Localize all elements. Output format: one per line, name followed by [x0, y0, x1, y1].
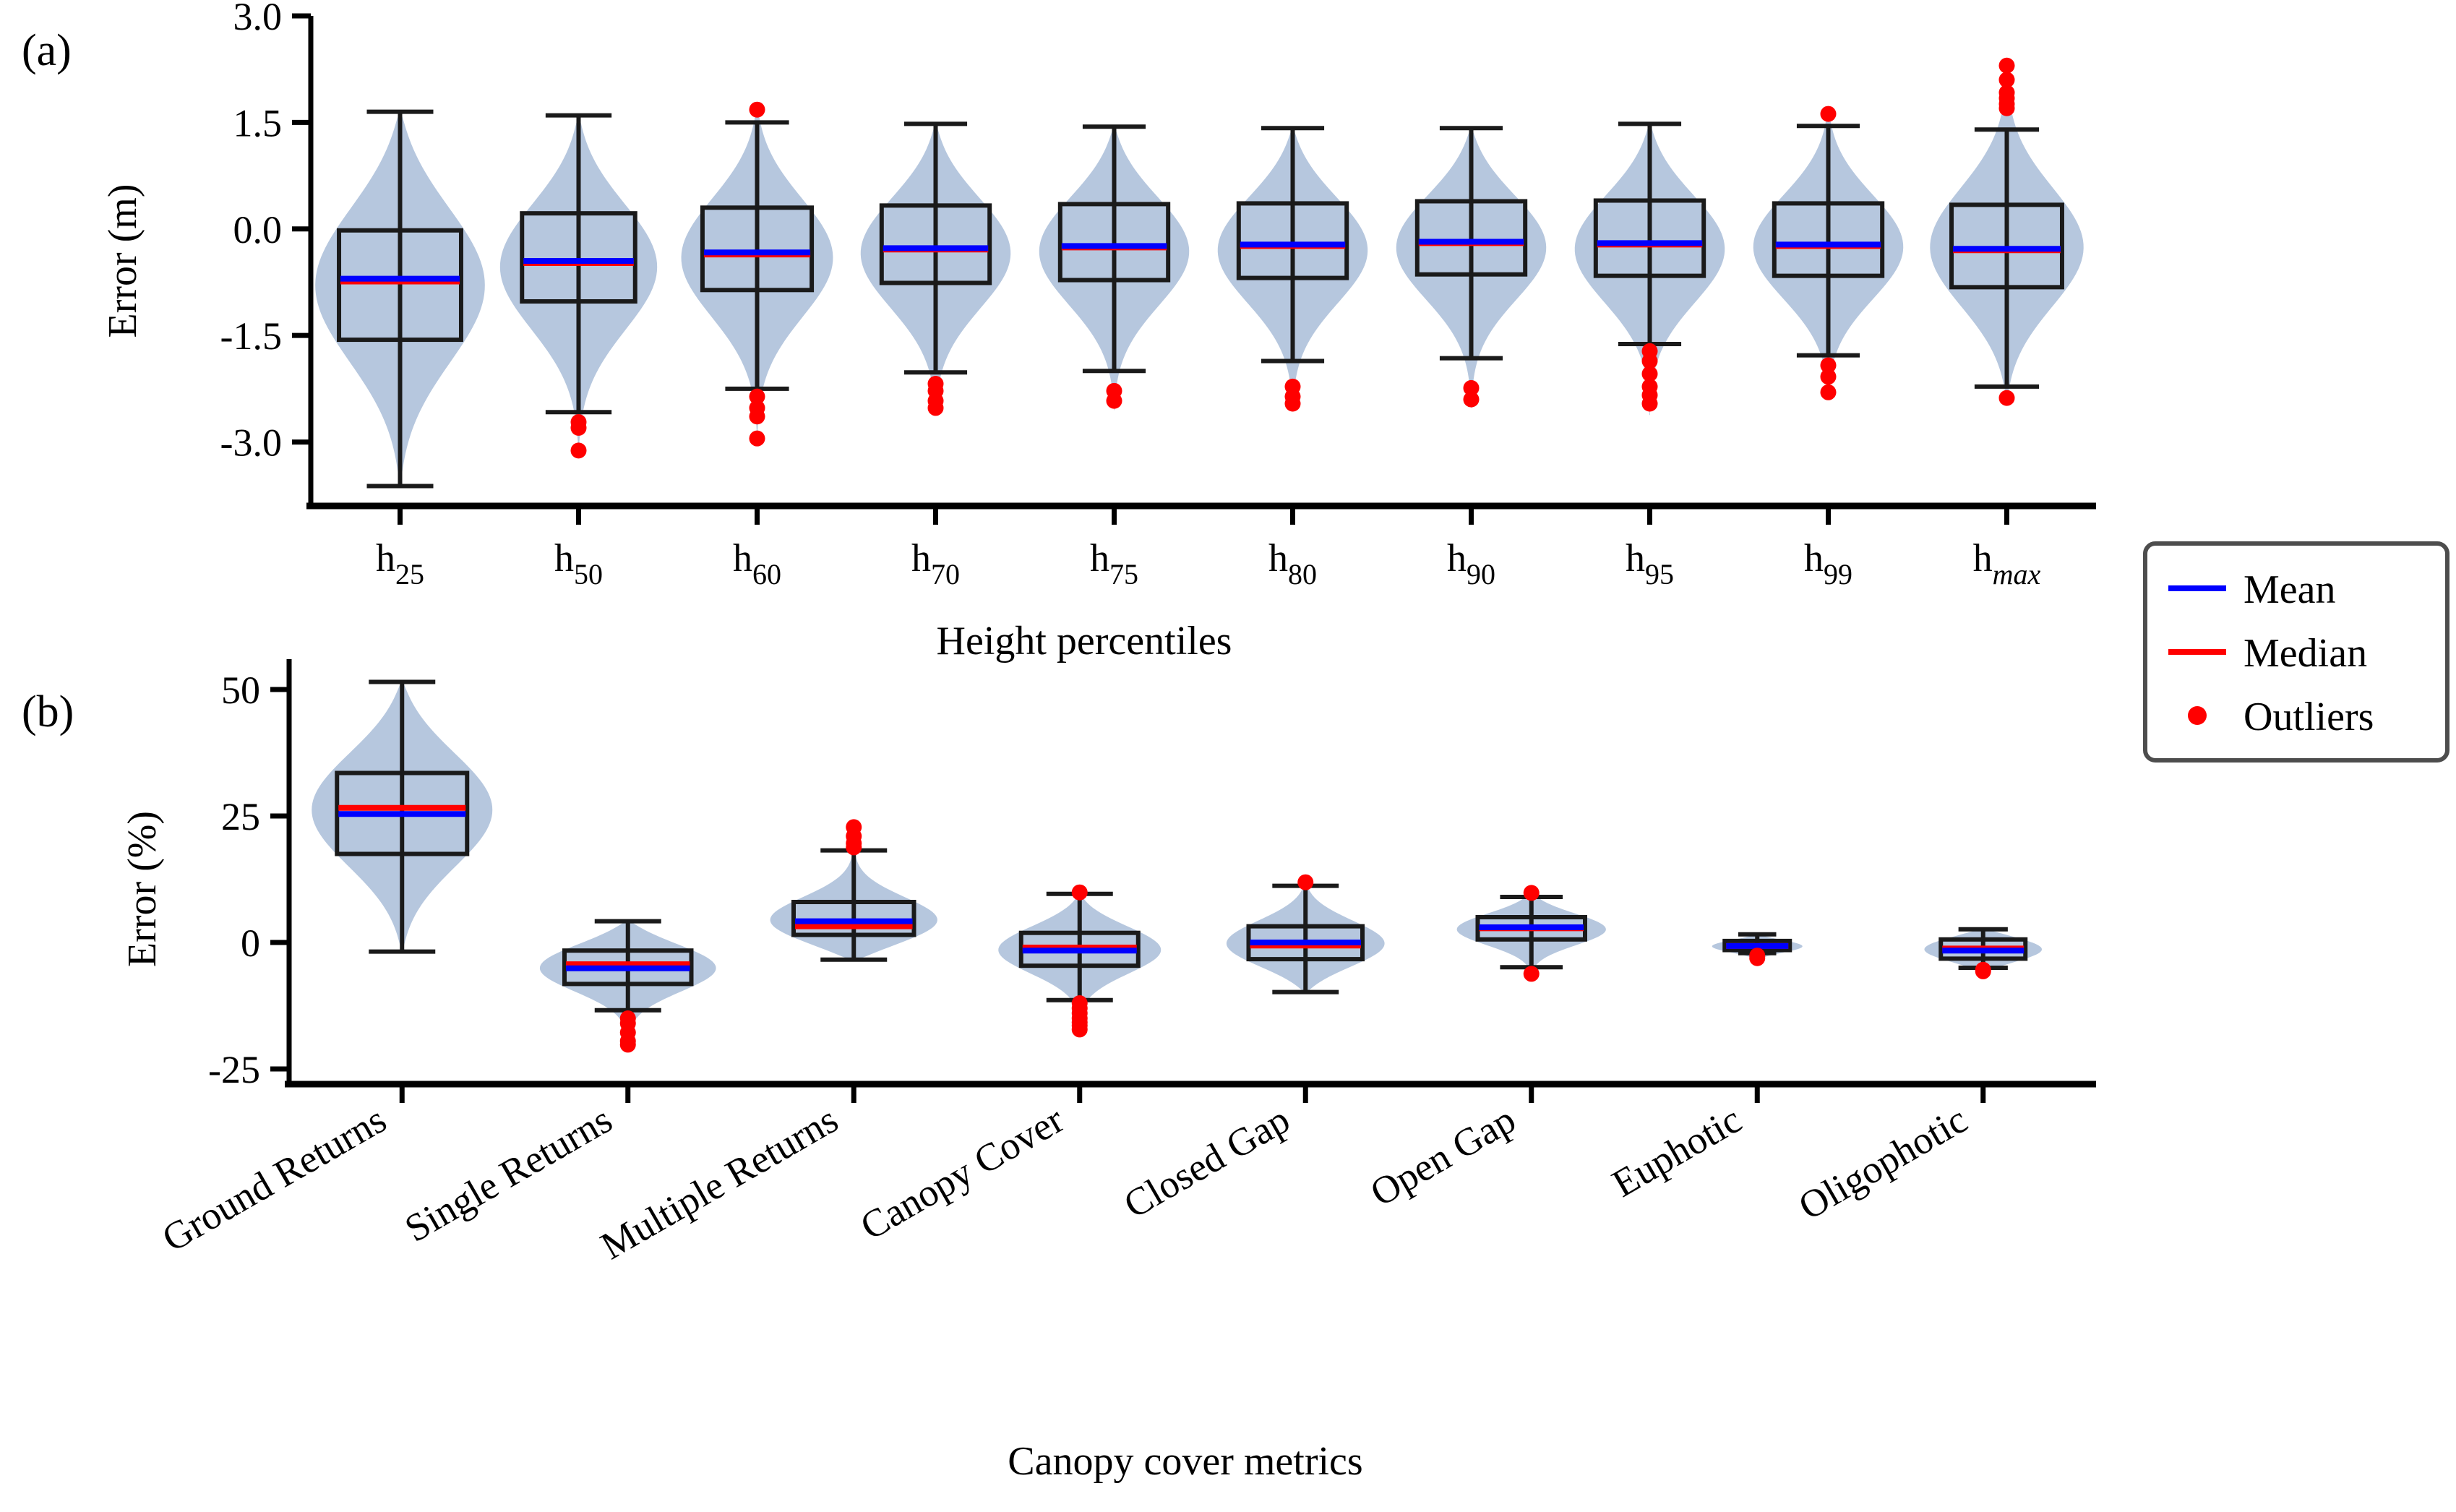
- violin-item: [1575, 124, 1725, 415]
- violin-item: [1039, 126, 1189, 410]
- y-tick-label: 0.0: [233, 208, 283, 252]
- y-tick-label: 0: [241, 922, 260, 965]
- y-tick-label: 3.0: [233, 0, 283, 38]
- violin-group-b: [312, 682, 2042, 1053]
- violin-group-a: [315, 58, 2084, 486]
- legend-item-label: Mean: [2244, 567, 2336, 612]
- violin-item: [770, 819, 937, 959]
- outlier-point: [1975, 963, 1991, 979]
- violin-figure: 3.01.50.0-1.5-3.0Error (m)Height percent…: [0, 0, 2456, 1512]
- violin-item: [1930, 58, 2083, 406]
- outlier-point: [571, 442, 587, 458]
- violin-item: [1457, 885, 1606, 981]
- outlier-point: [620, 1036, 636, 1052]
- x-category-label: h99: [1804, 536, 1852, 590]
- violin-item: [861, 124, 1010, 416]
- outlier-point: [1297, 875, 1313, 890]
- violin-item: [1753, 106, 1903, 400]
- violin-item: [1227, 875, 1385, 992]
- x-category-label: Multiple Returns: [593, 1097, 845, 1268]
- violin-item: [1218, 128, 1367, 411]
- panel-tag-a: (a): [22, 26, 72, 75]
- y-tick-group-b: 50250-25: [208, 669, 289, 1091]
- panel-a: 3.01.50.0-1.5-3.0Error (m)Height percent…: [22, 0, 2096, 663]
- axis-b: [285, 659, 2096, 1084]
- x-category-label: h70: [911, 536, 960, 590]
- x-tick-group-b: Ground ReturnsSingle ReturnsMultiple Ret…: [155, 1084, 1983, 1268]
- x-axis-title: Height percentiles: [937, 619, 1232, 663]
- y-axis-title: Error (%): [120, 811, 165, 967]
- violin-item: [1396, 128, 1546, 408]
- outlier-point: [1464, 392, 1480, 408]
- panel-tag-b: (b): [22, 687, 74, 736]
- outlier-point: [750, 102, 765, 118]
- x-category-label: h75: [1090, 536, 1138, 590]
- x-category-label: h80: [1268, 536, 1317, 590]
- outlier-point: [1107, 393, 1122, 409]
- legend-item-label: Outliers: [2244, 695, 2374, 739]
- x-category-label: Single Returns: [398, 1097, 619, 1250]
- y-tick-label: 50: [221, 669, 260, 712]
- x-category-label: hmax: [1973, 536, 2041, 590]
- x-category-label: h50: [554, 536, 603, 590]
- violin-item: [998, 885, 1161, 1038]
- outlier-point: [1524, 885, 1540, 901]
- x-category-label: h60: [733, 536, 781, 590]
- outlier-point: [1999, 390, 2015, 406]
- violin-item: [312, 682, 492, 952]
- x-axis-title: Canopy cover metrics: [1008, 1439, 1362, 1484]
- panel-b: 50250-25Error (%)Canopy cover metrics(b)…: [22, 659, 2096, 1484]
- legend-box: MeanMedianOutliers: [2145, 544, 2447, 760]
- x-category-label: Oligophotic: [1791, 1097, 1974, 1228]
- y-axis-title: Error (m): [100, 184, 145, 338]
- y-tick-label: 25: [221, 795, 260, 838]
- outlier-point: [928, 400, 944, 416]
- outlier-point: [1072, 885, 1088, 901]
- x-category-label: h90: [1447, 536, 1495, 590]
- x-category-label: Closed Gap: [1117, 1097, 1297, 1227]
- outlier-point: [1524, 966, 1540, 981]
- violin-item: [540, 922, 716, 1053]
- outlier-point: [1999, 100, 2015, 116]
- violin-item: [1925, 929, 2043, 979]
- outlier-point: [1821, 369, 1837, 385]
- violin-item: [1712, 935, 1803, 966]
- x-category-label: h95: [1626, 536, 1674, 590]
- y-tick-label: -25: [208, 1048, 260, 1091]
- x-category-label: Ground Returns: [155, 1097, 393, 1260]
- violin-item: [682, 102, 833, 447]
- outlier-point: [1642, 396, 1658, 412]
- violin-item: [315, 112, 485, 486]
- legend-dot-swatch: [2188, 706, 2207, 725]
- outlier-point: [1821, 106, 1837, 122]
- y-tick-group-a: 3.01.50.0-1.5-3.0: [220, 0, 311, 465]
- figure-canvas: 3.01.50.0-1.5-3.0Error (m)Height percent…: [0, 0, 2456, 1512]
- x-tick-group-a: h25h50h60h70h75h80h90h95h99hmax: [376, 506, 2041, 590]
- outlier-point: [1749, 950, 1765, 966]
- outlier-point: [1072, 1021, 1088, 1037]
- x-category-label: Euphotic: [1605, 1097, 1748, 1205]
- x-category-label: Open Gap: [1363, 1097, 1523, 1214]
- outlier-point: [846, 839, 862, 855]
- outlier-point: [1999, 58, 2015, 74]
- x-category-label: h25: [376, 536, 424, 590]
- legend-item-label: Median: [2244, 631, 2367, 676]
- violin-item: [500, 116, 657, 459]
- y-tick-label: -1.5: [220, 314, 282, 358]
- x-category-label: Canopy Cover: [853, 1097, 1070, 1248]
- outlier-point: [571, 420, 587, 436]
- outlier-point: [1821, 385, 1837, 400]
- y-tick-label: -3.0: [220, 421, 282, 465]
- outlier-point: [750, 431, 765, 447]
- outlier-point: [750, 408, 765, 424]
- y-tick-label: 1.5: [233, 101, 283, 145]
- outlier-point: [1285, 396, 1301, 412]
